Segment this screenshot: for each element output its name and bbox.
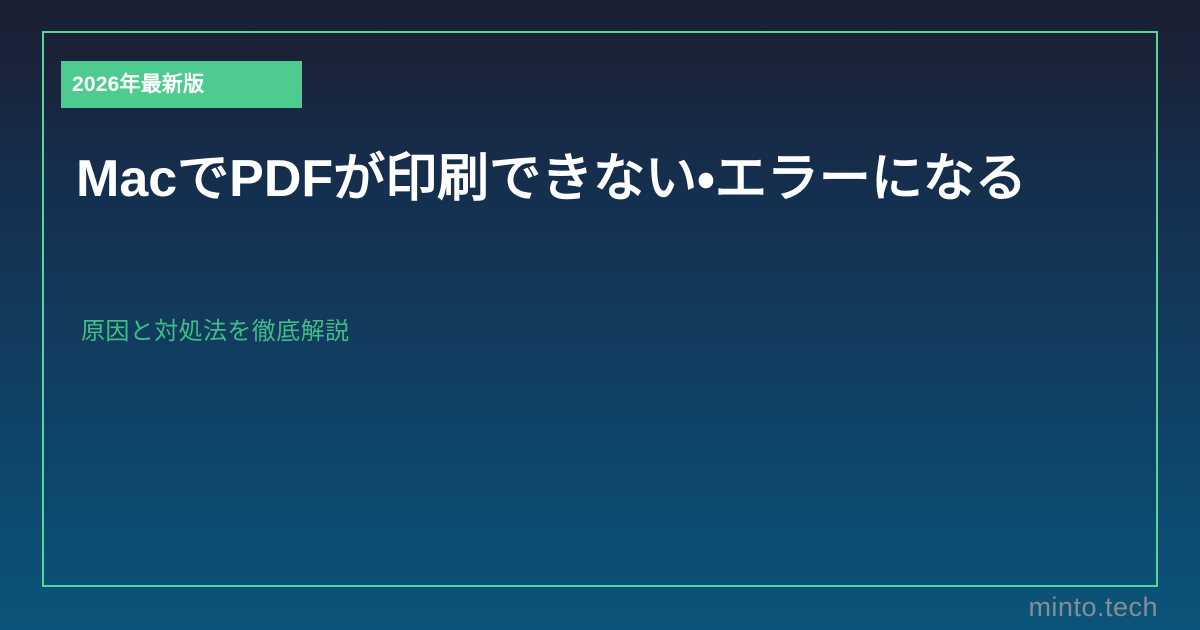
year-badge: 2026年最新版 — [61, 61, 302, 108]
ogp-card: 2026年最新版 MacでPDFが印刷できない・エラーになる 原因と対処法を徹底… — [0, 0, 1200, 630]
card-content: 2026年最新版 MacでPDFが印刷できない・エラーになる 原因と対処法を徹底… — [0, 0, 1200, 630]
page-subtitle: 原因と対処法を徹底解説 — [81, 314, 349, 350]
site-watermark: minto.tech — [1028, 592, 1158, 623]
page-title: MacでPDFが印刷できない・エラーになる — [76, 144, 1076, 215]
